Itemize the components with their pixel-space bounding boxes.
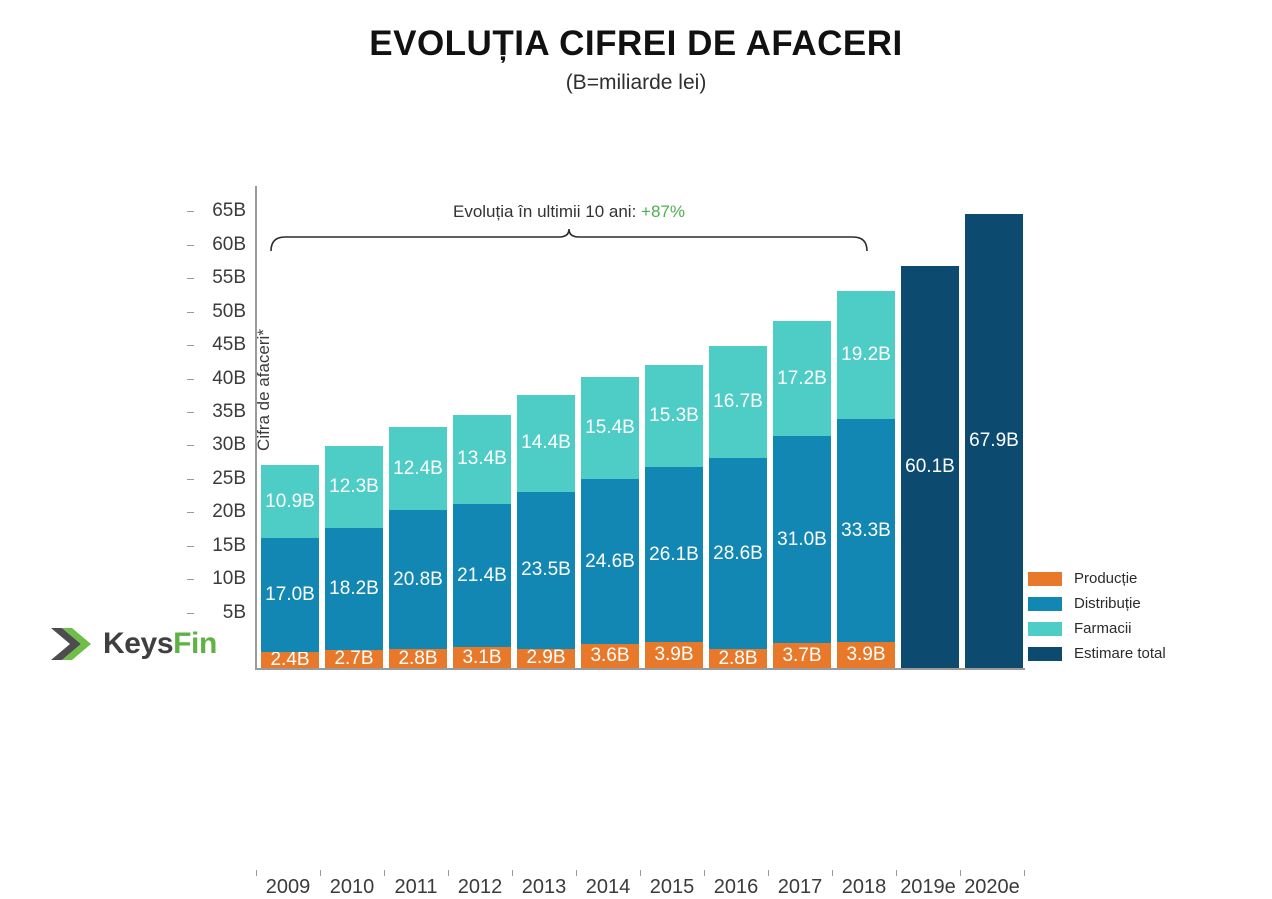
x-axis-tick-mark <box>768 870 769 876</box>
bar-segment-dist[interactable]: 21.4B <box>453 504 511 647</box>
bar-segment-prod[interactable]: 2.8B <box>709 649 767 668</box>
bar-group[interactable]: 3.6B24.6B15.4B <box>581 377 639 668</box>
logo-text: KeysFin <box>103 627 217 661</box>
legend-swatch <box>1028 597 1062 611</box>
y-axis-tick-label: 60B <box>194 234 256 256</box>
x-axis-tick-label: 2010 <box>320 876 384 899</box>
bar-segment-label: 20.8B <box>393 569 443 591</box>
legend-swatch <box>1028 572 1062 586</box>
x-axis-tick-mark <box>704 870 705 876</box>
y-axis-tick-label: 20B <box>194 501 256 523</box>
y-axis-tick-label: 5B <box>194 602 256 624</box>
bar-segment-dist[interactable]: 33.3B <box>837 419 895 642</box>
bar-group[interactable]: 3.9B33.3B19.2B <box>837 291 895 668</box>
x-axis-tick-mark <box>960 870 961 876</box>
bar-group[interactable]: 2.8B20.8B12.4B <box>389 427 447 668</box>
bar-group[interactable]: 60.1B <box>901 266 959 668</box>
bar-segment-farm[interactable]: 12.3B <box>325 446 383 528</box>
x-axis-tick-label: 2011 <box>384 876 448 899</box>
bar-segment-farm[interactable]: 14.4B <box>517 395 575 491</box>
page-subtitle: (B=miliarde lei) <box>0 71 1272 95</box>
x-axis-line <box>255 668 1025 670</box>
bar-segment-label: 60.1B <box>905 456 955 478</box>
y-axis-tick-mark <box>187 278 194 279</box>
x-axis-tick-label: 2014 <box>576 876 640 899</box>
bar-segment-dist[interactable]: 28.6B <box>709 458 767 649</box>
y-axis-tick-mark <box>187 579 194 580</box>
y-axis-tick-label: 40B <box>194 368 256 390</box>
bar-group[interactable]: 67.9B <box>965 214 1023 668</box>
bar-segment-dist[interactable]: 26.1B <box>645 467 703 641</box>
y-axis-tick-mark <box>187 345 194 346</box>
x-axis-tick-mark <box>448 870 449 876</box>
x-axis-tick-label: 2013 <box>512 876 576 899</box>
legend-swatch <box>1028 622 1062 636</box>
y-axis-tick-mark <box>187 412 194 413</box>
y-axis-tick-mark <box>187 312 194 313</box>
bar-segment-label: 19.2B <box>841 344 891 366</box>
x-axis-tick-mark <box>320 870 321 876</box>
x-axis-tick-mark <box>1024 870 1025 876</box>
bar-segment-farm[interactable]: 15.3B <box>645 365 703 467</box>
bar-segment-label: 3.6B <box>590 645 629 667</box>
bar-segment-farm[interactable]: 13.4B <box>453 415 511 505</box>
bar-group[interactable]: 3.7B31.0B17.2B <box>773 321 831 668</box>
y-axis-tick-label: 10B <box>194 568 256 590</box>
legend-item-label: Estimare total <box>1074 645 1166 662</box>
x-axis-tick-label: 2017 <box>768 876 832 899</box>
bar-segment-farm[interactable]: 19.2B <box>837 291 895 419</box>
bar-segment-label: 31.0B <box>777 529 827 551</box>
y-axis-tick-mark <box>187 546 194 547</box>
bar-segment-prod[interactable]: 3.7B <box>773 643 831 668</box>
bar-segment-est[interactable]: 60.1B <box>901 266 959 668</box>
bar-segment-label: 12.4B <box>393 458 443 480</box>
bar-group[interactable]: 2.7B18.2B12.3B <box>325 446 383 668</box>
bar-segment-label: 17.2B <box>777 368 827 390</box>
bar-segment-dist[interactable]: 31.0B <box>773 436 831 643</box>
bar-segment-farm[interactable]: 12.4B <box>389 427 447 510</box>
bar-group[interactable]: 3.1B21.4B13.4B <box>453 415 511 668</box>
y-axis-tick-mark <box>187 613 194 614</box>
x-axis-tick-mark <box>576 870 577 876</box>
legend-swatch <box>1028 647 1062 661</box>
legend-item[interactable]: Producție <box>1028 566 1166 591</box>
bar-segment-label: 18.2B <box>329 578 379 600</box>
logo-text-keys: Keys <box>103 627 173 660</box>
y-axis-tick-mark <box>187 211 194 212</box>
y-axis-tick-mark <box>187 479 194 480</box>
bar-segment-prod[interactable]: 3.9B <box>645 642 703 668</box>
bar-segment-label: 2.7B <box>334 650 373 668</box>
bar-segment-label: 2.9B <box>526 649 565 668</box>
bar-segment-label: 23.5B <box>521 559 571 581</box>
bar-segment-prod[interactable]: 2.7B <box>325 650 383 668</box>
y-axis-tick-label: 45B <box>194 334 256 356</box>
bar-segment-label: 3.9B <box>654 644 693 666</box>
bar-group[interactable]: 3.9B26.1B15.3B <box>645 365 703 668</box>
bar-segment-label: 12.3B <box>329 476 379 498</box>
x-axis-tick-label: 2015 <box>640 876 704 899</box>
x-axis-tick-label: 2009 <box>256 876 320 899</box>
bar-segment-prod[interactable]: 3.9B <box>837 642 895 668</box>
bar-segment-prod[interactable]: 3.6B <box>581 644 639 668</box>
bar-segment-label: 24.6B <box>585 551 635 573</box>
bar-segment-label: 2.8B <box>718 649 757 668</box>
bar-segment-dist[interactable]: 18.2B <box>325 528 383 650</box>
legend-item-label: Producție <box>1074 570 1137 587</box>
x-axis-tick-mark <box>832 870 833 876</box>
legend-item-label: Farmacii <box>1074 620 1132 637</box>
bar-segment-label: 28.6B <box>713 543 763 565</box>
y-axis-tick-mark <box>187 445 194 446</box>
bar-segment-label: 10.9B <box>265 491 315 513</box>
y-axis-tick-mark <box>187 379 194 380</box>
bar-segment-label: 21.4B <box>457 565 507 587</box>
bar-segment-est[interactable]: 67.9B <box>965 214 1023 668</box>
y-axis-tick-label: 15B <box>194 535 256 557</box>
x-axis-tick-label: 2019e <box>896 876 960 899</box>
bar-segment-prod[interactable]: 2.9B <box>517 649 575 668</box>
x-axis-tick-label: 2020e <box>960 876 1024 899</box>
y-axis-tick-mark <box>187 512 194 513</box>
y-axis-tick-label: 25B <box>194 468 256 490</box>
bar-segment-prod[interactable]: 2.8B <box>389 649 447 668</box>
bar-segment-farm[interactable]: 16.7B <box>709 346 767 458</box>
bar-segment-label: 26.1B <box>649 544 699 566</box>
legend-item[interactable]: Distribuție <box>1028 591 1166 616</box>
bar-segment-label: 33.3B <box>841 520 891 542</box>
y-axis-tick-label: 35B <box>194 401 256 423</box>
legend-item-label: Distribuție <box>1074 595 1141 612</box>
bar-segment-label: 3.1B <box>462 647 501 668</box>
y-axis-tick-label: 55B <box>194 267 256 289</box>
y-axis-tick-label: 50B <box>194 301 256 323</box>
legend-item[interactable]: Farmacii <box>1028 616 1166 641</box>
bar-segment-label: 16.7B <box>713 391 763 413</box>
title-block: EVOLUȚIA CIFREI DE AFACERI (B=miliarde l… <box>0 26 1272 95</box>
bar-segment-dist[interactable]: 17.0B <box>261 538 319 652</box>
page-title: EVOLUȚIA CIFREI DE AFACERI <box>0 26 1272 63</box>
bar-group[interactable]: 2.4B17.0B10.9B <box>261 465 319 668</box>
chart-plot-area: Cifra de afaceri* 5B10B15B20B25B30B35B40… <box>256 200 1024 668</box>
x-axis-tick-mark <box>640 870 641 876</box>
bar-segment-label: 67.9B <box>969 430 1019 452</box>
bar-segment-label: 15.4B <box>585 417 635 439</box>
y-axis-tick-label: 30B <box>194 434 256 456</box>
x-axis-tick-label: 2016 <box>704 876 768 899</box>
logo-text-fin: Fin <box>173 627 217 660</box>
x-axis-tick-label: 2012 <box>448 876 512 899</box>
bar-segment-label: 2.8B <box>398 649 437 668</box>
bar-segment-label: 13.4B <box>457 448 507 470</box>
bar-segment-label: 3.9B <box>846 644 885 666</box>
legend-item[interactable]: Estimare total <box>1028 641 1166 666</box>
bar-segment-farm[interactable]: 10.9B <box>261 465 319 538</box>
bar-segment-dist[interactable]: 24.6B <box>581 479 639 643</box>
y-axis-tick-mark <box>187 245 194 246</box>
bar-segment-prod[interactable]: 2.4B <box>261 652 319 668</box>
x-axis-tick-mark <box>896 870 897 876</box>
bar-segment-label: 17.0B <box>265 584 315 606</box>
bar-segment-dist[interactable]: 23.5B <box>517 492 575 649</box>
bar-segment-dist[interactable]: 20.8B <box>389 510 447 649</box>
x-axis-tick-mark <box>512 870 513 876</box>
x-axis-tick-mark <box>256 870 257 876</box>
x-axis-tick-label: 2018 <box>832 876 896 899</box>
bar-segment-farm[interactable]: 17.2B <box>773 321 831 436</box>
y-axis-tick-label: 65B <box>194 200 256 222</box>
bar-segment-label: 3.7B <box>782 645 821 667</box>
chevron-logo-icon <box>48 624 94 664</box>
bar-group[interactable]: 2.8B28.6B16.7B <box>709 346 767 668</box>
x-axis-tick-mark <box>384 870 385 876</box>
bar-segment-farm[interactable]: 15.4B <box>581 377 639 480</box>
keysfin-logo: KeysFin <box>48 624 217 664</box>
bar-segment-label: 14.4B <box>521 432 571 454</box>
bar-segment-label: 2.4B <box>270 652 309 668</box>
bar-segment-label: 15.3B <box>649 405 699 427</box>
bar-group[interactable]: 2.9B23.5B14.4B <box>517 395 575 668</box>
chart-legend: ProducțieDistribuțieFarmaciiEstimare tot… <box>1028 566 1166 666</box>
bar-segment-prod[interactable]: 3.1B <box>453 647 511 668</box>
